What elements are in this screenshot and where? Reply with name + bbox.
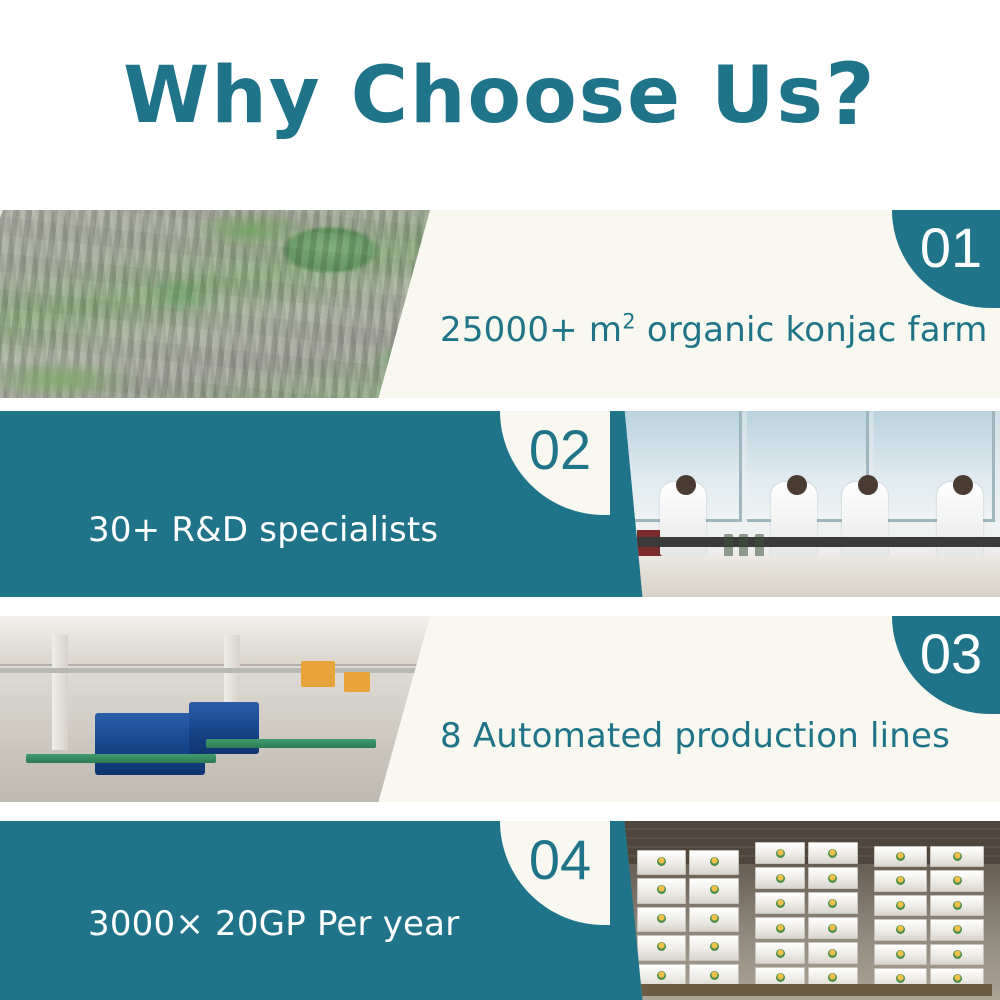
konjac-farm-image (0, 210, 430, 398)
row-1-label-main: 25000+ m (440, 310, 622, 350)
lab-researcher-1-head (676, 475, 696, 495)
row-3-label-main: 8 Automated production lines (440, 716, 950, 756)
factory-machine-1 (95, 713, 205, 775)
row-2-number: 02 (529, 422, 591, 478)
warehouse-carton-stack-1 (637, 850, 740, 990)
warehouse-carton-stack-2 (755, 842, 858, 989)
carton (637, 850, 687, 876)
row-2-label-main: 30+ R&D specialists (88, 510, 438, 550)
row-4-number-badge: 04 (500, 821, 610, 925)
factory-conveyor-2 (206, 739, 376, 748)
warehouse-carton-stack-3 (874, 846, 985, 989)
row-1-label-tail: organic konjac farm (636, 310, 988, 350)
lab-researcher-4-head (953, 475, 973, 495)
carton (637, 935, 687, 961)
carton (874, 846, 928, 867)
factory-conveyor-1 (26, 754, 216, 763)
factory-crate-1 (301, 661, 335, 687)
warehouse-image (605, 821, 1000, 1000)
feature-row-4: 04 3000× 20GP Per year (0, 821, 1000, 1000)
carton (874, 895, 928, 916)
carton (874, 944, 928, 965)
carton (637, 878, 687, 904)
carton (755, 917, 805, 939)
carton (930, 919, 984, 940)
laboratory-image (605, 411, 1000, 597)
factory-pillar-1 (52, 635, 68, 750)
feature-row-3: 8 Automated production lines 03 (0, 616, 1000, 802)
carton (808, 942, 858, 964)
page-title-question-mark: ? (825, 45, 877, 145)
page-title: Why Choose Us? (0, 52, 1000, 138)
carton (637, 907, 687, 933)
carton (808, 867, 858, 889)
row-1-number: 01 (920, 220, 982, 276)
factory-crate-2 (344, 672, 370, 692)
row-1-label-superscript: 2 (622, 309, 636, 334)
carton (930, 846, 984, 867)
lab-researcher-2-head (787, 475, 807, 495)
row-4-photo (605, 821, 1000, 1000)
row-3-label: 8 Automated production lines (440, 719, 950, 753)
row-1-photo (0, 210, 430, 398)
row-3-number: 03 (920, 626, 982, 682)
lab-bench-front (605, 556, 1000, 597)
carton (874, 870, 928, 891)
lab-bottle-1 (724, 534, 733, 556)
row-2-number-badge: 02 (500, 411, 610, 515)
row-4-label: 3000× 20GP Per year (88, 907, 459, 941)
row-3-number-badge: 03 (892, 616, 1000, 714)
carton (689, 850, 739, 876)
carton (874, 919, 928, 940)
row-1-label: 25000+ m2 organic konjac farm (440, 313, 988, 347)
carton (689, 878, 739, 904)
carton (930, 895, 984, 916)
carton (755, 842, 805, 864)
lab-bottle-3 (755, 534, 764, 556)
lab-researcher-3-head (858, 475, 878, 495)
production-line-image (0, 616, 430, 802)
row-2-label: 30+ R&D specialists (88, 513, 438, 547)
carton (930, 944, 984, 965)
lab-bottle-2 (739, 534, 748, 556)
row-4-label-main: 3000× 20GP Per year (88, 904, 459, 944)
carton (808, 917, 858, 939)
warehouse-pallet (629, 984, 992, 997)
feature-row-1: 25000+ m2 organic konjac farm 01 (0, 210, 1000, 398)
carton (689, 907, 739, 933)
feature-row-2: 02 30+ R&D specialists (0, 411, 1000, 597)
lab-bench (605, 537, 1000, 547)
carton (755, 892, 805, 914)
carton (755, 867, 805, 889)
carton (930, 870, 984, 891)
carton (755, 942, 805, 964)
row-4-number: 04 (529, 832, 591, 888)
page-title-text: Why Choose Us (123, 51, 825, 141)
row-2-photo (605, 411, 1000, 597)
row-3-photo (0, 616, 430, 802)
carton (808, 892, 858, 914)
carton (689, 935, 739, 961)
carton (808, 842, 858, 864)
why-choose-us-infographic: Why Choose Us? 25000+ m2 organic konjac … (0, 0, 1000, 1000)
row-1-number-badge: 01 (892, 210, 1000, 308)
